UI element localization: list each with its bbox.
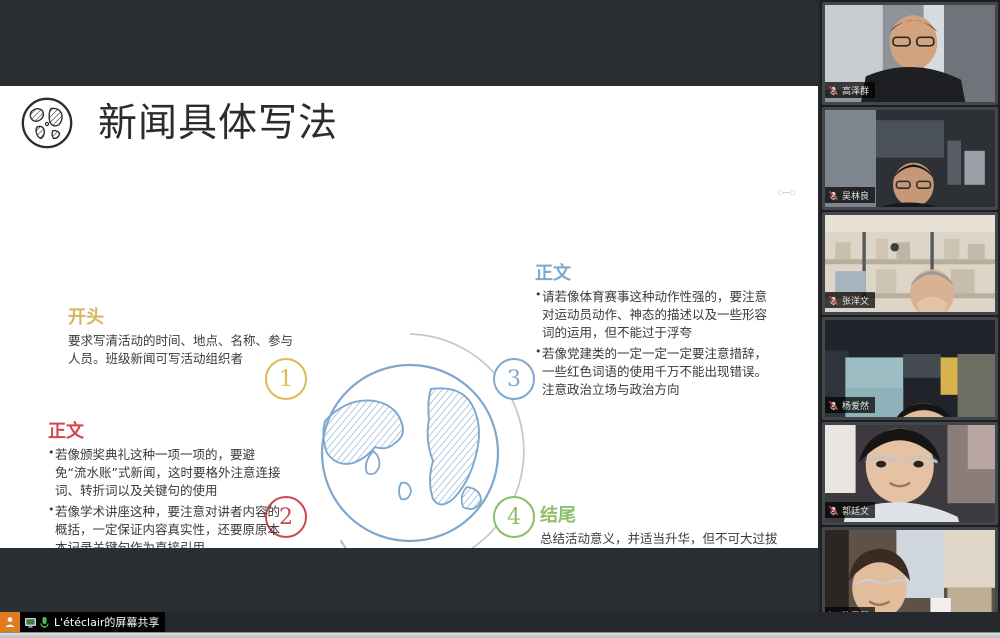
participant-name-badge: 高泽群 — [825, 82, 875, 98]
os-taskbar[interactable] — [0, 632, 1000, 638]
globe-icon — [18, 94, 76, 152]
user-icon — [0, 612, 20, 632]
zhengwen-right-bullet-1: 请若像体育赛事这种动作性强的，要注意对运动员动作、神态的描述以及一些形容词的运用… — [535, 288, 775, 342]
screen-share-icon — [24, 616, 37, 629]
zhengwen-right-bullet-2: 若像党建类的一定一定一定要注意措辞，一些红色词语的使用千万不能出现错误。注意政治… — [535, 345, 775, 399]
jiewei-heading: 结尾 — [540, 506, 785, 526]
participant-tile[interactable]: 高泽群 — [822, 2, 998, 105]
participant-tile[interactable]: 郭廷文 — [822, 422, 998, 525]
mic-muted-icon — [828, 85, 839, 96]
participant-tile[interactable]: 杨爱然 — [822, 317, 998, 420]
mic-muted-icon — [828, 190, 839, 201]
participant-name: 杨爱然 — [842, 399, 869, 412]
participant-name-badge: 张洋文 — [825, 292, 875, 308]
mic-muted-icon — [828, 295, 839, 306]
text-block-jiewei: 结尾 总结活动意义，并适当升华，但不可大过拔高。格式不要刻板。语气要坚定，一般不… — [540, 506, 785, 548]
slide-title: 新闻具体写法 — [98, 104, 338, 143]
participant-name: 张洋文 — [842, 294, 869, 307]
diagram-number-4: 4 — [493, 496, 535, 538]
user-glyph — [4, 616, 16, 628]
participant-video-strip[interactable]: 高泽群 — [820, 0, 1000, 632]
kaitou-body: 要求写清活动的时间、地点、名称、参与人员。班级新闻可写活动组织者 — [68, 332, 300, 368]
screen-share-label: L'étéclair的屏幕共享 — [54, 614, 165, 630]
participant-tile[interactable]: 吴林良 — [822, 107, 998, 210]
zhengwen-left-heading: 正文 — [48, 422, 286, 442]
participant-name: 郭廷文 — [842, 504, 869, 517]
text-block-zhengwen-right: 正文 请若像体育赛事这种动作性强的，要注意对运动员动作、神态的描述以及一些形容词… — [535, 264, 775, 403]
slide-header: 新闻具体写法 — [18, 94, 338, 152]
participant-name-badge: 吴林良 — [825, 187, 875, 203]
zhengwen-left-bullet-1: 若像颁奖典礼这种一项一项的，要避免“流水账”式新闻，这时要格外注意连接词、转折词… — [48, 446, 286, 500]
slide-corner-mark: ○─○ — [777, 187, 795, 199]
participant-name-badge: 郭廷文 — [825, 502, 875, 518]
participant-name: 高泽群 — [842, 84, 869, 97]
diagram-number-3: 3 — [493, 358, 535, 400]
kaitou-heading: 开头 — [68, 308, 300, 328]
screen-share-chip[interactable]: L'étéclair的屏幕共享 — [0, 612, 165, 632]
mic-muted-icon — [828, 400, 839, 411]
zhengwen-right-heading: 正文 — [535, 264, 775, 284]
presentation-slide[interactable]: 新闻具体写法 — [0, 86, 818, 548]
microphone-icon — [39, 616, 50, 629]
mic-muted-icon — [828, 505, 839, 516]
text-block-kaitou: 开头 要求写清活动的时间、地点、名称、参与人员。班级新闻可写活动组织者 — [68, 308, 300, 368]
video-conference-window: 新闻具体写法 — [0, 0, 1000, 638]
shared-screen-stage[interactable]: 新闻具体写法 — [0, 0, 818, 632]
participant-name-badge: 杨爱然 — [825, 397, 875, 413]
zhengwen-left-bullet-2: 若像学术讲座这种，要注意对讲者内容的概括，一定保证内容真实性，还要原原本本记录关… — [48, 503, 286, 548]
jiewei-body: 总结活动意义，并适当升华，但不可大过拔高。格式不要刻板。语气要坚定，一般不要使用… — [540, 530, 785, 548]
participant-tile[interactable]: 张洋文 — [822, 212, 998, 315]
screen-share-bar: L'étéclair的屏幕共享 — [0, 612, 1000, 632]
text-block-zhengwen-left: 正文 若像颁奖典礼这种一项一项的，要避免“流水账”式新闻，这时要格外注意连接词、… — [48, 422, 286, 548]
participant-name: 吴林良 — [842, 189, 869, 202]
